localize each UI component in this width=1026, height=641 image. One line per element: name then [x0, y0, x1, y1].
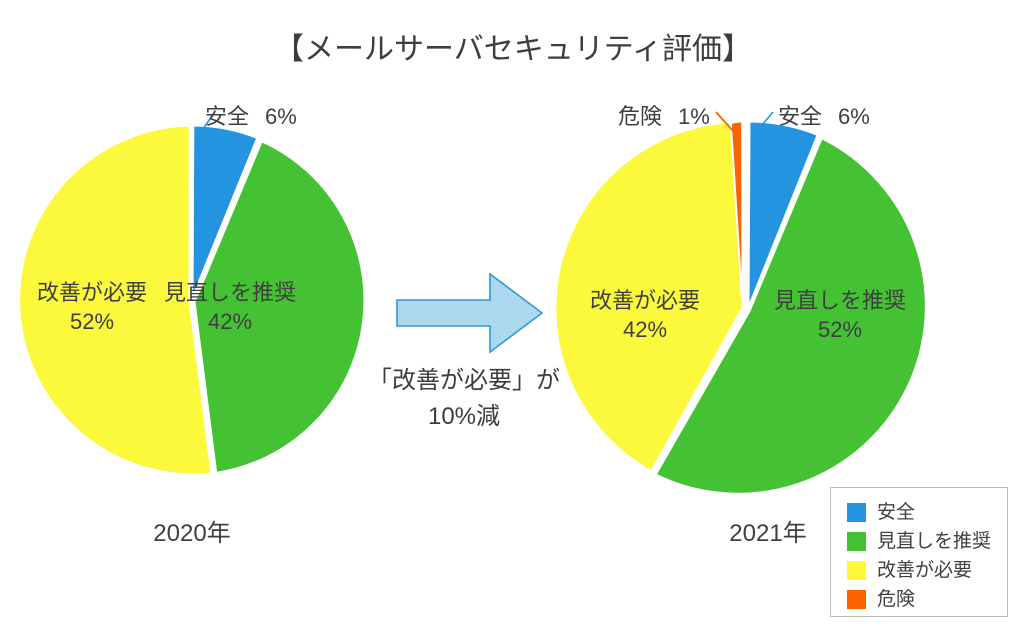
legend-label-improve: 改善が必要 [877, 561, 972, 580]
pie-chart-2020 [19, 113, 365, 475]
callout-safe-2020-pct: 6% [265, 104, 297, 129]
callout-danger-2021-pct: 1% [678, 104, 710, 129]
legend-label-review: 見直しを推奨 [877, 532, 991, 551]
chart-canvas: 【メールサーバセキュリティ評価】 [0, 0, 1026, 641]
legend-label-danger: 危険 [877, 590, 915, 609]
callout-safe-2020: 安全6% [205, 99, 297, 131]
callout-safe-2021-name: 安全 [778, 104, 822, 129]
callout-safe-2021-pct: 6% [838, 104, 870, 129]
right-arrow-icon [397, 274, 542, 352]
legend-item-danger[interactable]: 危険 [847, 585, 1007, 614]
legend-swatch-danger-icon [847, 590, 866, 609]
pie-slice-improve-2020[interactable] [19, 125, 212, 475]
legend-item-safe[interactable]: 安全 [847, 498, 1007, 527]
year-label-2020: 2020年 [92, 513, 292, 548]
legend-label-safe: 安全 [877, 503, 915, 522]
legend: 安全 見直しを推奨 改善が必要 危険 [830, 487, 1008, 617]
legend-item-review[interactable]: 見直しを推奨 [847, 527, 1007, 556]
legend-swatch-improve-icon [847, 561, 866, 580]
legend-item-improve[interactable]: 改善が必要 [847, 556, 1007, 585]
callout-safe-2021: 安全6% [778, 99, 870, 131]
legend-swatch-safe-icon [847, 503, 866, 522]
callout-safe-2020-name: 安全 [205, 104, 249, 129]
annotation-line-1: 「改善が必要」が [348, 363, 580, 399]
callout-danger-2021-name: 危険 [618, 104, 662, 129]
annotation-line-2: 10%減 [348, 399, 580, 435]
annotation-text: 「改善が必要」が 10%減 [348, 363, 580, 435]
callout-danger-2021: 危険1% [618, 99, 710, 131]
legend-swatch-review-icon [847, 532, 866, 551]
pie-chart-2021 [555, 112, 926, 494]
